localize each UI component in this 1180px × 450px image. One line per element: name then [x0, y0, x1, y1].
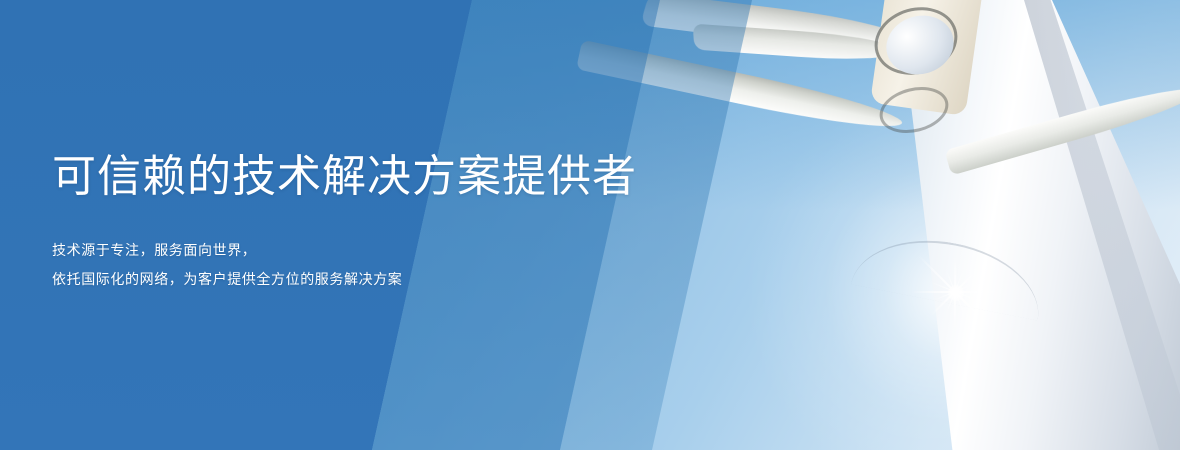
banner-subtitle-line-1: 技术源于专注，服务面向世界， [52, 236, 692, 265]
hero-banner: 可信赖的技术解决方案提供者 技术源于专注，服务面向世界， 依托国际化的网络，为客… [0, 0, 1180, 450]
banner-subtitle-line-2: 依托国际化的网络，为客户提供全方位的服务解决方案 [52, 265, 692, 294]
banner-subtitle: 技术源于专注，服务面向世界， 依托国际化的网络，为客户提供全方位的服务解决方案 [52, 236, 692, 294]
banner-copy: 可信赖的技术解决方案提供者 技术源于专注，服务面向世界， 依托国际化的网络，为客… [52, 148, 692, 294]
sun-core-icon [948, 285, 964, 301]
banner-headline: 可信赖的技术解决方案提供者 [52, 148, 692, 206]
